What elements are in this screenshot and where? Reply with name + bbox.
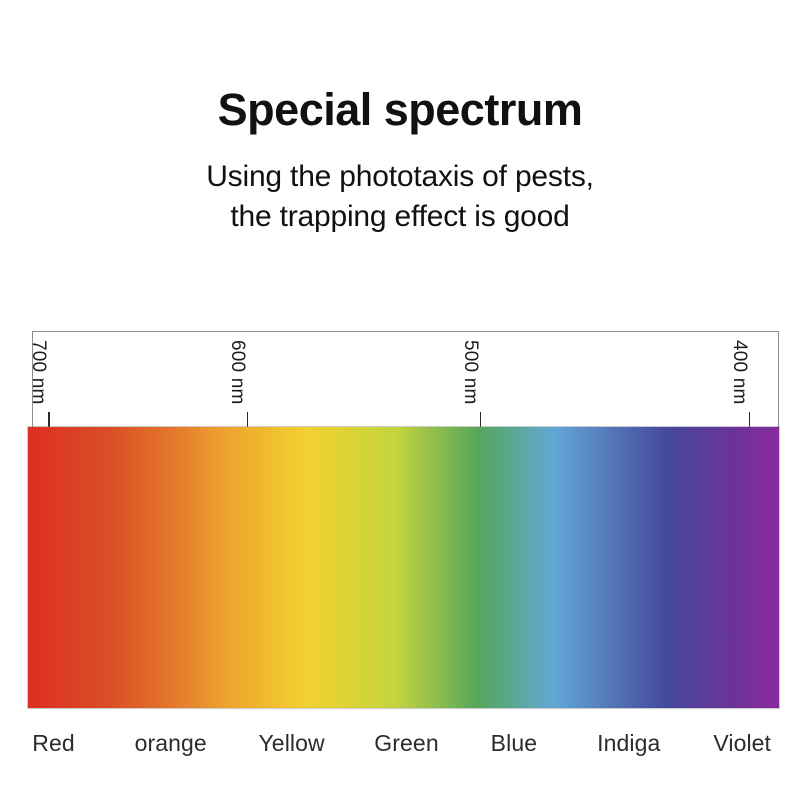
tick-mark-icon [480,412,482,427]
visible-spectrum-band [28,427,779,708]
spectrum-figure: 700 nm 600 nm 500 nm 400 nm Red orange Y… [0,0,800,800]
color-label-violet: Violet [713,726,771,760]
wavelength-tick-label-600: 600 nm [228,340,247,405]
color-label-orange: orange [135,726,207,760]
color-label-blue: Blue [491,726,537,760]
wavelength-tick-label-700: 700 nm [29,340,48,405]
wavelength-tick-label-400: 400 nm [730,340,749,405]
color-label-green: Green [374,726,438,760]
wavelength-tick-label-500: 500 nm [461,340,480,405]
color-label-yellow: Yellow [258,726,324,760]
color-band-labels: Red orange Yellow Green Blue Indiga Viol… [28,726,779,760]
tick-mark-icon [48,412,50,427]
tick-mark-icon [749,412,751,427]
color-label-indigo: Indiga [597,726,660,760]
spectrum-infographic: Special spectrum Using the phototaxis of… [0,0,800,800]
tick-mark-icon [247,412,249,427]
color-label-red: Red [32,726,75,760]
wavelength-scale-box: 700 nm 600 nm 500 nm 400 nm [32,331,779,428]
